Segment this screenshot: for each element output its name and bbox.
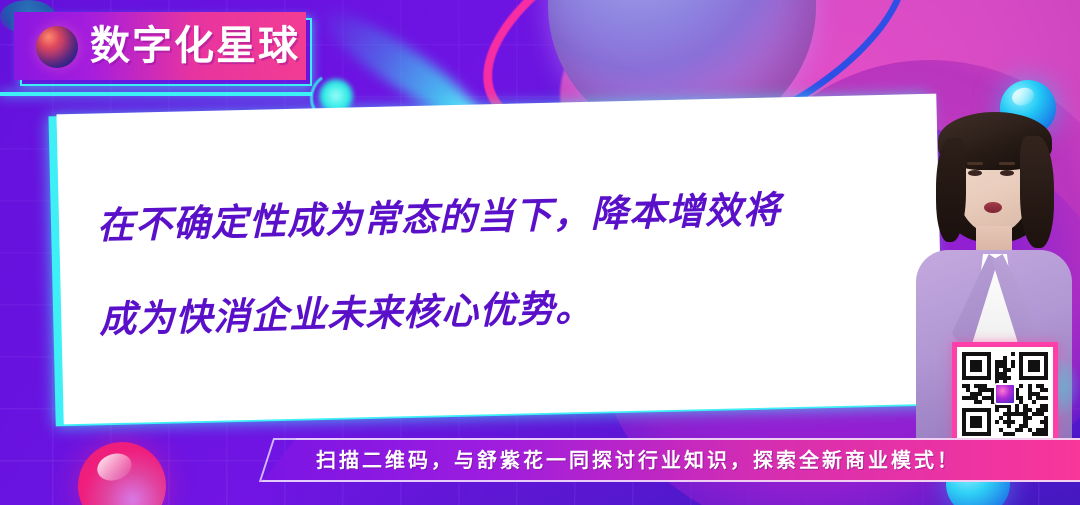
- presenter-brow-left: [967, 162, 983, 165]
- qr-code-inner: [957, 347, 1053, 441]
- globe-icon: [36, 26, 78, 68]
- presenter-hair-right: [1020, 136, 1054, 248]
- presenter-eye-left: [968, 170, 982, 176]
- presenter-mouth: [984, 202, 1002, 213]
- neon-divider-line: [0, 92, 312, 96]
- qr-code[interactable]: [952, 342, 1058, 446]
- presenter-eye-right: [1000, 170, 1014, 176]
- quote-line-1: 在不确定性成为常态的当下，降本增效将: [96, 161, 888, 274]
- promo-graphic: 数字化星球 在不确定性成为常态的当下，降本增效将 成为快消企业未来核心优势。: [0, 0, 1080, 505]
- brand-logo-text: 数字化星球: [90, 20, 300, 72]
- presenter-brow-right: [999, 162, 1015, 165]
- quote-text: 在不确定性成为常态的当下，降本增效将 成为快消企业未来核心优势。: [96, 161, 890, 368]
- qr-center-logo-icon: [994, 383, 1016, 405]
- quote-line-2: 成为快消企业未来核心优势。: [98, 255, 890, 368]
- brand-logo-banner: 数字化星球: [14, 12, 314, 84]
- caption-text: 扫描二维码，与舒紫花一同探讨行业知识，探索全新商业模式！: [316, 438, 1080, 482]
- presenter-hair-left: [936, 138, 966, 242]
